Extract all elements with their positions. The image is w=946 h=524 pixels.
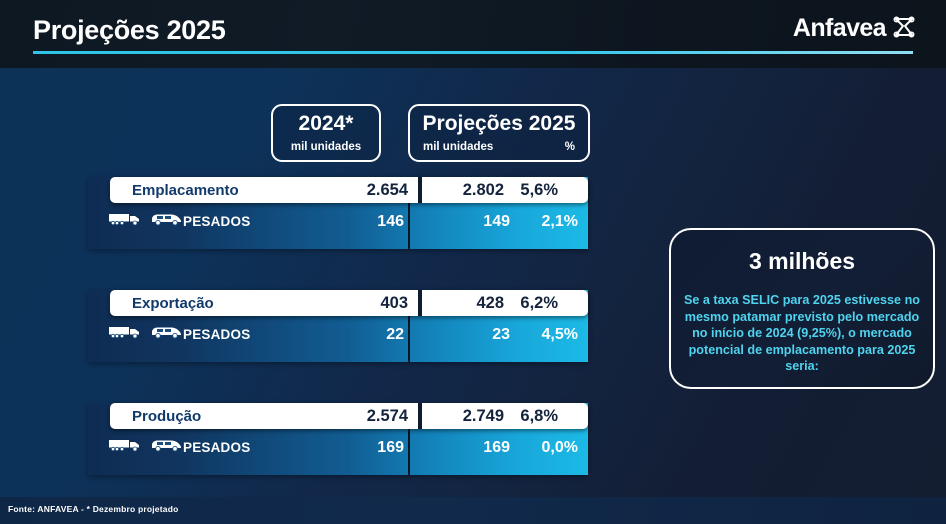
block-body: Exportação 403 428 6,2% LEVES 381 405 — [88, 290, 588, 362]
row-value-2024: 22 — [313, 326, 421, 344]
logo-text: Anfavea — [793, 14, 886, 43]
callout-headline: 3 milhões — [749, 248, 855, 275]
block-total-proj: 2.802 — [432, 181, 504, 200]
semi-truck-icon — [108, 212, 142, 231]
table-row: PESADOS 169 169 0,0% — [88, 433, 588, 462]
block-body: Produção 2.574 2.749 6,8% LEVES 2.405 2. — [88, 403, 588, 475]
selic-callout-box: 3 milhões Se a taxa SELIC para 2025 esti… — [669, 228, 935, 389]
row-value-proj: 169 — [421, 439, 516, 457]
van-icon — [150, 325, 182, 344]
row-value-pct: 0,0% — [516, 439, 588, 457]
block-total-2024: 403 — [315, 294, 408, 313]
block-total-2024: 2.574 — [315, 407, 408, 426]
semi-truck-icon — [108, 438, 142, 457]
column-divider — [418, 403, 422, 429]
row-label: PESADOS — [183, 440, 313, 455]
column-divider — [418, 177, 422, 203]
van-icon — [150, 438, 182, 457]
row-value-pct: 2,1% — [516, 213, 588, 231]
data-block-emplacamento: Emplacamento 2.654 2.802 5,6% LEVES 2.50… — [88, 166, 588, 249]
column-header-proj2025-title: Projeções 2025 — [423, 113, 576, 134]
row-value-proj: 149 — [421, 213, 516, 231]
row-label: PESADOS — [183, 214, 313, 229]
block-name: Emplacamento — [110, 182, 315, 199]
table-row: PESADOS 146 149 2,1% — [88, 207, 588, 236]
block-title-bar: Emplacamento 2.654 2.802 5,6% — [110, 177, 588, 203]
van-icon — [150, 212, 182, 231]
block-title-bar: Exportação 403 428 6,2% — [110, 290, 588, 316]
slide-footer: Fonte: ANFAVEA - * Dezembro projetado — [0, 497, 946, 524]
block-name: Exportação — [110, 295, 315, 312]
source-note: Fonte: ANFAVEA - * Dezembro projetado — [8, 504, 178, 514]
semi-truck-icon — [108, 325, 142, 344]
column-header-proj2025-pct: % — [565, 141, 575, 153]
block-total-proj: 2.749 — [432, 407, 504, 426]
data-block-exportacao: Exportação 403 428 6,2% LEVES 381 405 — [88, 279, 588, 362]
column-header-2024-title: 2024* — [299, 113, 354, 134]
column-header-2024-subtitle: mil unidades — [291, 141, 361, 153]
column-header-proj2025-subtitle: mil unidades — [423, 141, 493, 153]
anfavea-symbol-icon — [892, 16, 916, 43]
block-total-pct: 6,8% — [504, 407, 566, 426]
block-body: Emplacamento 2.654 2.802 5,6% LEVES 2.50… — [88, 177, 588, 249]
row-label: PESADOS — [183, 327, 313, 342]
table-row: PESADOS 22 23 4,5% — [88, 320, 588, 349]
block-total-pct: 6,2% — [504, 294, 566, 313]
anfavea-logo: Anfavea — [793, 14, 916, 43]
row-value-2024: 146 — [313, 213, 421, 231]
row-icons — [88, 438, 183, 457]
data-block-producao: Produção 2.574 2.749 6,8% LEVES 2.405 2. — [88, 392, 588, 475]
header-underline — [33, 51, 913, 54]
block-total-proj: 428 — [432, 294, 504, 313]
slide-root: Projeções 2025 Anfavea 2024* mil unidade… — [0, 0, 946, 524]
page-title: Projeções 2025 — [33, 15, 225, 46]
row-icons — [88, 212, 183, 231]
callout-body: Se a taxa SELIC para 2025 estivesse no m… — [678, 292, 926, 375]
row-icons — [88, 325, 183, 344]
slide-header: Projeções 2025 Anfavea — [0, 0, 946, 68]
block-title-bar: Produção 2.574 2.749 6,8% — [110, 403, 588, 429]
column-header-2024: 2024* mil unidades — [271, 104, 381, 162]
column-divider — [418, 290, 422, 316]
column-header-proj2025: Projeções 2025 mil unidades % — [408, 104, 590, 162]
block-total-pct: 5,6% — [504, 181, 566, 200]
row-value-pct: 4,5% — [516, 326, 588, 344]
block-total-2024: 2.654 — [315, 181, 408, 200]
row-value-2024: 169 — [313, 439, 421, 457]
row-value-proj: 23 — [421, 326, 516, 344]
block-name: Produção — [110, 408, 315, 425]
